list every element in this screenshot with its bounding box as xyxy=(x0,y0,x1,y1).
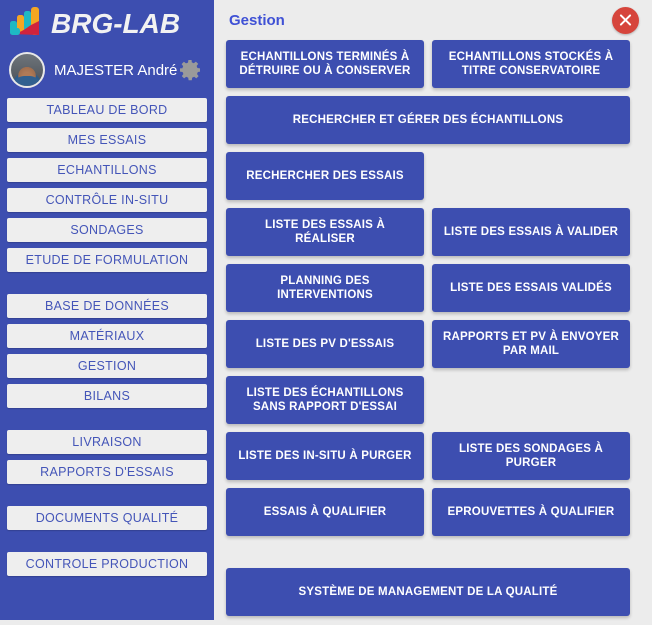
sidebar-item-tableau-de-bord[interactable]: TABLEAU DE BORD xyxy=(7,98,207,122)
user-name: MAJESTER André xyxy=(54,62,177,79)
sidebar-item-bilans[interactable]: BILANS xyxy=(7,384,207,408)
tile-liste-essais-valides[interactable]: LISTE DES ESSAIS VALIDÉS xyxy=(432,264,630,312)
tile-echantillons-stockes[interactable]: ECHANTILLONS STOCKÉS À TITRE CONSERVATOI… xyxy=(432,40,630,88)
sidebar-item-controle-production[interactable]: CONTROLE PRODUCTION xyxy=(7,552,207,576)
avatar xyxy=(9,52,45,88)
tile-rechercher-gerer-echantillons[interactable]: RECHERCHER ET GÉRER DES ÉCHANTILLONS xyxy=(226,96,630,144)
close-icon[interactable] xyxy=(612,7,639,34)
tile-planning-interventions[interactable]: PLANNING DES INTERVENTIONS xyxy=(226,264,424,312)
brand-header: BRG-LAB xyxy=(7,0,207,48)
sidebar-item-etude-de-formulation[interactable]: ETUDE DE FORMULATION xyxy=(7,248,207,272)
sidebar-item-gestion[interactable]: GESTION xyxy=(7,354,207,378)
tile-liste-sondages-a-purger[interactable]: LISTE DES SONDAGES À PURGER xyxy=(432,432,630,480)
page-title: Gestion xyxy=(229,12,285,29)
panel-header: Gestion xyxy=(222,0,644,40)
sidebar-group-5: CONTROLE PRODUCTION xyxy=(7,552,207,576)
tile-liste-in-situ-a-purger[interactable]: LISTE DES IN-SITU À PURGER xyxy=(226,432,424,480)
tile-liste-essais-a-realiser[interactable]: LISTE DES ESSAIS À RÉALISER xyxy=(226,208,424,256)
main-panel: Gestion ECHANTILLONS TERMINÉS À DÉTRUIRE… xyxy=(214,0,652,625)
grid-spacer xyxy=(432,152,630,200)
sidebar-group-3: LIVRAISON RAPPORTS D'ESSAIS xyxy=(7,430,207,484)
sidebar: BRG-LAB MAJESTER André TABLEAU DE BORD M… xyxy=(0,0,214,620)
sidebar-item-materiaux[interactable]: MATÉRIAUX xyxy=(7,324,207,348)
sidebar-group-4: DOCUMENTS QUALITÉ xyxy=(7,506,207,530)
sidebar-item-livraison[interactable]: LIVRAISON xyxy=(7,430,207,454)
tile-essais-a-qualifier[interactable]: ESSAIS À QUALIFIER xyxy=(226,488,424,536)
sidebar-item-base-de-donnees[interactable]: BASE DE DONNÉES xyxy=(7,294,207,318)
tile-eprouvettes-a-qualifier[interactable]: EPROUVETTES À QUALIFIER xyxy=(432,488,630,536)
tile-rechercher-des-essais[interactable]: RECHERCHER DES ESSAIS xyxy=(226,152,424,200)
tile-echantillons-termines[interactable]: ECHANTILLONS TERMINÉS À DÉTRUIRE OU À CO… xyxy=(226,40,424,88)
sidebar-item-sondages[interactable]: SONDAGES xyxy=(7,218,207,242)
sidebar-item-mes-essais[interactable]: MES ESSAIS xyxy=(7,128,207,152)
sidebar-item-controle-in-situ[interactable]: CONTRÔLE IN-SITU xyxy=(7,188,207,212)
tile-grid: ECHANTILLONS TERMINÉS À DÉTRUIRE OU À CO… xyxy=(222,40,644,616)
grid-row-gap xyxy=(226,544,640,560)
grid-spacer xyxy=(432,376,630,424)
tile-systeme-management-qualite[interactable]: SYSTÈME DE MANAGEMENT DE LA QUALITÉ xyxy=(226,568,630,616)
tile-liste-pv-essais[interactable]: LISTE DES PV D'ESSAIS xyxy=(226,320,424,368)
tile-rapports-pv-mail[interactable]: RAPPORTS ET PV À ENVOYER PAR MAIL xyxy=(432,320,630,368)
tile-liste-essais-a-valider[interactable]: LISTE DES ESSAIS À VALIDER xyxy=(432,208,630,256)
bar-chart-logo-icon xyxy=(9,7,45,41)
tile-echantillons-sans-rapport[interactable]: LISTE DES ÉCHANTILLONS SANS RAPPORT D'ES… xyxy=(226,376,424,424)
brand-name: BRG-LAB xyxy=(51,10,180,38)
sidebar-group-1: TABLEAU DE BORD MES ESSAIS ECHANTILLONS … xyxy=(7,98,207,272)
sidebar-item-documents-qualite[interactable]: DOCUMENTS QUALITÉ xyxy=(7,506,207,530)
sidebar-group-2: BASE DE DONNÉES MATÉRIAUX GESTION BILANS xyxy=(7,294,207,408)
gear-icon[interactable] xyxy=(177,57,203,83)
application-window: BRG-LAB MAJESTER André TABLEAU DE BORD M… xyxy=(0,0,652,625)
sidebar-item-rapports-d-essais[interactable]: RAPPORTS D'ESSAIS xyxy=(7,460,207,484)
user-row: MAJESTER André xyxy=(7,48,207,92)
sidebar-item-echantillons[interactable]: ECHANTILLONS xyxy=(7,158,207,182)
